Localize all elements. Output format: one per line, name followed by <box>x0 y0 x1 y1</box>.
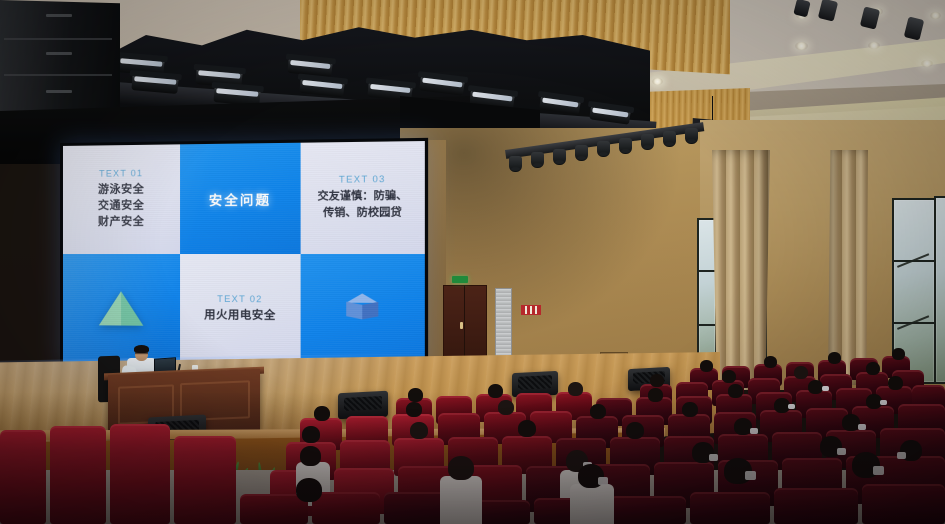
auditorium-photo: TEXT 01 游泳安全 交通安全 财产安全 安全问题 TEXT 03 交友谨慎… <box>0 0 945 524</box>
downlight-icon <box>868 42 880 49</box>
face-mask-icon <box>873 466 884 475</box>
stage-door[interactable] <box>443 285 487 359</box>
face-mask-icon <box>598 477 608 485</box>
door-handle-icon[interactable] <box>460 322 463 329</box>
cube-icon <box>346 293 378 326</box>
window <box>934 196 945 384</box>
audience-head <box>700 360 713 372</box>
led-screen[interactable]: TEXT 01 游泳安全 交通安全 财产安全 安全问题 TEXT 03 交友谨慎… <box>60 138 428 370</box>
face-mask-icon <box>745 471 756 480</box>
curtain <box>828 150 868 385</box>
face-mask-icon <box>709 454 718 461</box>
presenter-hair <box>134 345 149 353</box>
audience-head <box>406 402 422 417</box>
tile-kicker: TEXT 01 <box>99 168 143 179</box>
seat <box>0 430 46 524</box>
audience-head <box>888 376 903 390</box>
screen-tile-heading: 安全问题 <box>180 143 301 254</box>
face-mask-icon <box>837 448 846 455</box>
screen-tile-text03: TEXT 03 交友谨慎：防骗、 传销、防校园贷 <box>301 141 425 254</box>
seat <box>50 426 106 524</box>
audience-head <box>410 422 428 439</box>
audience-head <box>650 374 664 387</box>
exit-sign-icon <box>452 276 468 283</box>
screen-tile-text01: TEXT 01 游泳安全 交通安全 财产安全 <box>63 144 180 254</box>
tile-line: 传销、防校园贷 <box>323 205 402 222</box>
audience-head <box>722 370 736 383</box>
audience-head <box>828 352 841 364</box>
tile-kicker: TEXT 02 <box>217 294 262 304</box>
seat <box>312 492 380 524</box>
downlight-icon <box>652 78 663 85</box>
tile-line: 游泳安全 <box>98 182 144 198</box>
screen-tile-cube <box>301 254 425 367</box>
spotlight-icon <box>663 131 676 147</box>
tile-heading: 安全问题 <box>209 189 271 209</box>
screen-tile-text02: TEXT 02 用火用电安全 <box>180 254 301 365</box>
seat <box>610 496 686 524</box>
tile-line: 交友谨慎：防骗、 <box>318 188 408 205</box>
audience-head <box>498 400 514 415</box>
pyramid-icon <box>99 291 143 326</box>
audience-head <box>764 356 777 368</box>
face-mask-icon <box>750 428 758 434</box>
spotlight-icon <box>531 152 544 168</box>
face-mask-icon <box>858 424 866 430</box>
downlight-icon <box>795 42 808 50</box>
audience-head <box>648 388 663 402</box>
audience-head <box>314 406 330 421</box>
face-mask-icon <box>880 400 887 405</box>
screen-tile-pyramid <box>63 254 180 364</box>
seat <box>110 424 170 524</box>
wall-sign <box>521 305 541 315</box>
tile-line: 交通安全 <box>98 198 144 214</box>
curtain <box>712 150 770 390</box>
door-seam <box>464 285 465 357</box>
audience-shirt <box>570 484 614 524</box>
downlight-icon <box>921 60 933 67</box>
audience-head <box>866 362 880 375</box>
audience-head <box>568 382 583 396</box>
audience-head <box>448 456 474 480</box>
spotlight-icon <box>553 149 566 165</box>
audience-head <box>408 388 423 402</box>
audience-head <box>794 366 808 379</box>
audience-head <box>518 420 536 437</box>
audience-shirt <box>440 476 482 524</box>
spotlight-icon <box>641 134 654 150</box>
audience-head <box>300 446 321 466</box>
speaker-rigging-wire <box>712 96 713 122</box>
tile-line: 财产安全 <box>98 215 144 231</box>
audience-head <box>682 402 698 417</box>
audience-head <box>296 478 322 502</box>
seat <box>862 484 945 524</box>
spotlight-icon <box>509 156 522 172</box>
audience-head <box>626 422 644 439</box>
face-mask-icon <box>897 452 906 459</box>
spotlight-icon <box>575 145 588 161</box>
seat <box>774 488 858 524</box>
audience-head <box>892 348 905 360</box>
audience-head <box>302 426 320 443</box>
tile-kicker: TEXT 03 <box>339 174 386 185</box>
audience-head <box>728 384 743 398</box>
downlight-icon <box>930 12 941 19</box>
audience-head <box>590 404 606 419</box>
column-speaker <box>495 288 512 360</box>
face-mask-icon <box>788 404 795 409</box>
spotlight-icon <box>619 138 632 154</box>
tile-line: 用火用电安全 <box>204 308 276 325</box>
seat <box>690 492 770 524</box>
face-mask-icon <box>822 386 829 391</box>
spotlight-icon <box>597 141 610 157</box>
audience-head <box>808 380 823 394</box>
audience-head <box>488 384 503 398</box>
seat <box>174 436 236 524</box>
spotlight-icon <box>685 128 698 144</box>
